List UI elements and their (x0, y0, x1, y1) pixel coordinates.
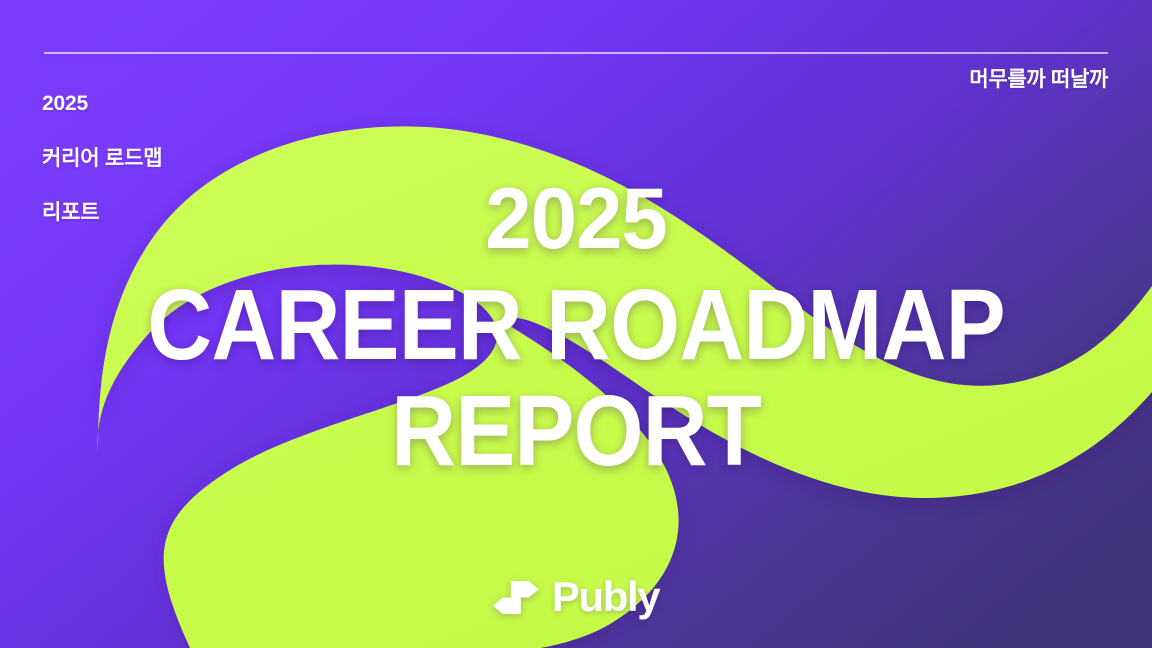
publy-logo[interactable]: Publy (493, 576, 659, 618)
kicker-line-2: 커리어 로드맵 (42, 145, 162, 172)
title-year: 2025 (17, 178, 1134, 261)
publy-wordmark: Publy (552, 576, 659, 618)
cover-title: 2025 CAREER ROADMAP REPORT (0, 178, 1152, 479)
title-line-1: CAREER ROADMAP (58, 277, 1095, 373)
title-line-2: REPORT (58, 383, 1095, 479)
cover-tagline: 머무를까 떠날까 (969, 63, 1108, 93)
header-divider (44, 52, 1108, 54)
report-cover: 2025 커리어 로드맵 리포트 머무를까 떠날까 2025 CAREER RO… (0, 0, 1152, 648)
publy-arrow-mark (493, 581, 539, 614)
kicker-line-1: 2025 (42, 90, 162, 117)
